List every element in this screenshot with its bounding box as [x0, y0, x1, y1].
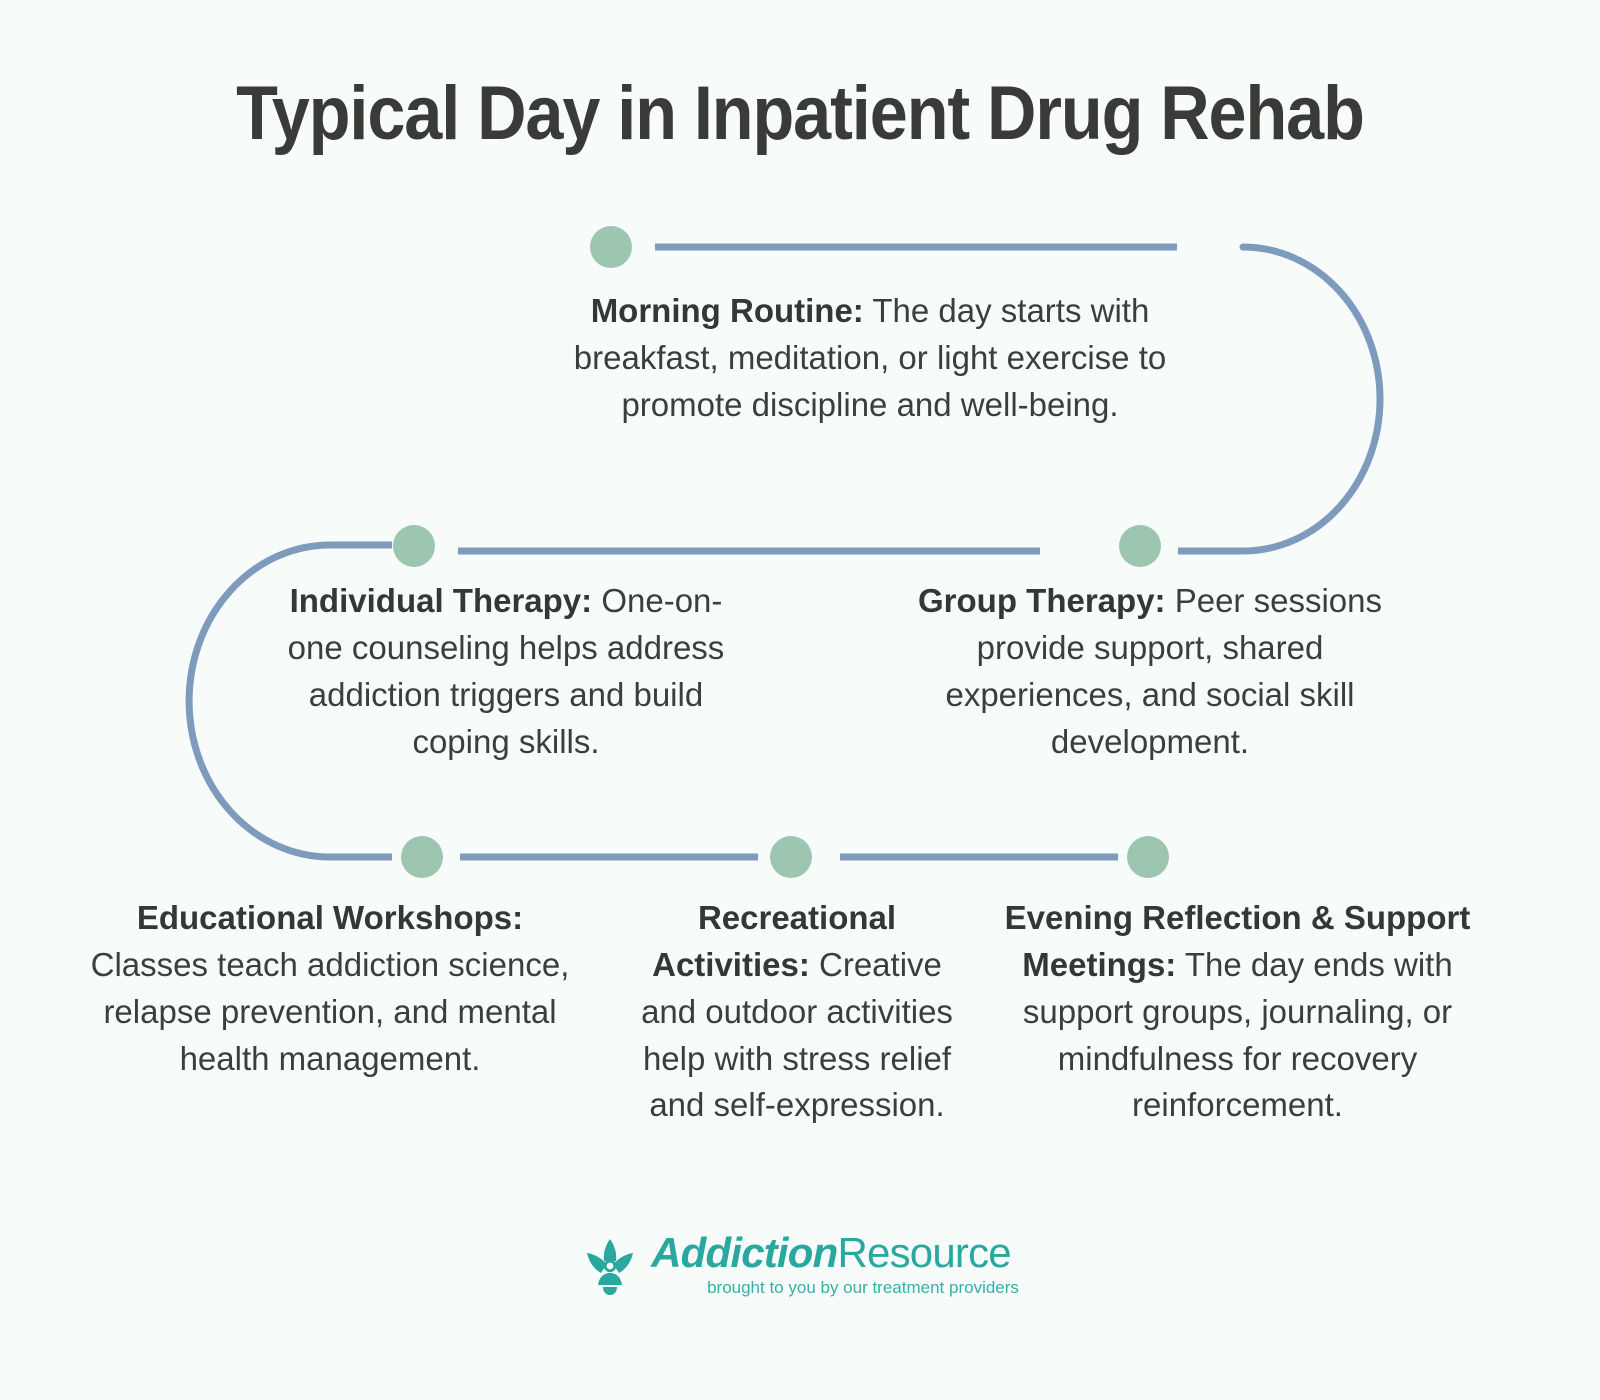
logo-tagline: brought to you by our treatment provider… — [707, 1279, 1019, 1296]
step-morning-routine: Morning Routine: The day starts with bre… — [565, 288, 1175, 429]
logo-word-addiction: Addiction — [651, 1229, 837, 1276]
node-dot-educational-workshops — [401, 836, 443, 878]
node-dot-morning-routine — [590, 226, 632, 268]
connector-arc-right — [1243, 247, 1380, 551]
step-recreational-activities: Recreational Activities: Creative and ou… — [632, 895, 962, 1129]
step-heading-individual-therapy: Individual Therapy: — [290, 582, 593, 619]
step-heading-educational-workshops: Educational Workshops: — [137, 899, 523, 936]
addiction-resource-lotus-icon — [581, 1233, 639, 1295]
step-educational-workshops: Educational Workshops: Classes teach add… — [75, 895, 585, 1082]
step-heading-group-therapy: Group Therapy: — [918, 582, 1166, 619]
step-group-therapy: Group Therapy: Peer sessions provide sup… — [905, 578, 1395, 765]
node-dot-evening-reflection — [1127, 836, 1169, 878]
step-individual-therapy: Individual Therapy: One-on-one counselin… — [272, 578, 740, 765]
page-title: Typical Day in Inpatient Drug Rehab — [80, 70, 1520, 157]
brand-logo: AddictionResource brought to you by our … — [0, 1232, 1600, 1296]
step-heading-morning-routine: Morning Routine: — [591, 292, 864, 329]
node-dot-individual-therapy — [393, 525, 435, 567]
node-dot-recreational-activities — [770, 836, 812, 878]
step-body-educational-workshops: Classes teach addiction science, relapse… — [91, 946, 570, 1077]
logo-wordmark: AddictionResource — [651, 1232, 1011, 1274]
logo-text-group: AddictionResource brought to you by our … — [651, 1232, 1019, 1296]
logo-word-resource: Resource — [838, 1229, 1011, 1276]
step-evening-reflection: Evening Reflection & Support Meetings: T… — [985, 895, 1490, 1129]
infographic-canvas: Typical Day in Inpatient Drug Rehab Morn… — [0, 0, 1600, 1400]
node-dot-group-therapy — [1119, 525, 1161, 567]
